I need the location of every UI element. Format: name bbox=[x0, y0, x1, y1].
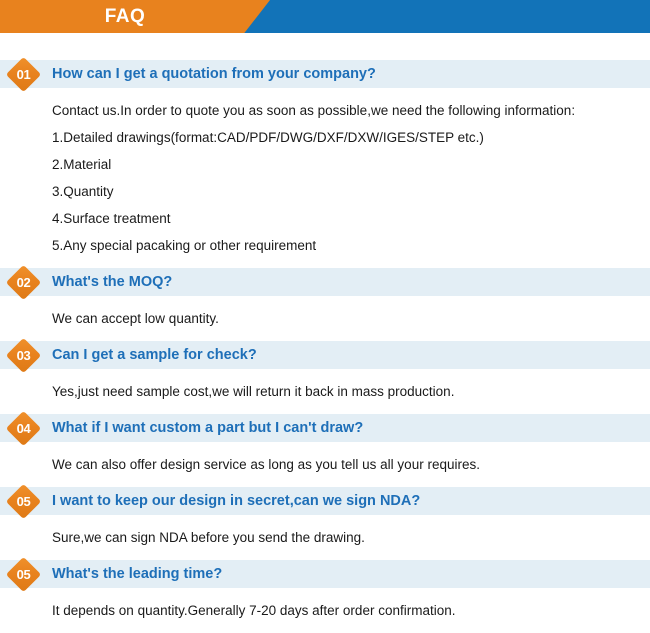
faq-answer-line: We can accept low quantity. bbox=[52, 296, 650, 341]
faq-answer-block: Yes,just need sample cost,we will return… bbox=[0, 369, 650, 414]
faq-question-row[interactable]: 02What's the MOQ? bbox=[0, 268, 650, 296]
faq-answer-line: Contact us.In order to quote you as soon… bbox=[52, 88, 650, 124]
faq-question-text: What's the leading time? bbox=[52, 566, 222, 582]
faq-answer-line: 1.Detailed drawings(format:CAD/PDF/DWG/D… bbox=[52, 124, 650, 151]
faq-item: 04What if I want custom a part but I can… bbox=[0, 414, 650, 487]
faq-answer-line: 2.Material bbox=[52, 151, 650, 178]
faq-question-text: What if I want custom a part but I can't… bbox=[52, 420, 363, 436]
faq-item: 02What's the MOQ?We can accept low quant… bbox=[0, 268, 650, 341]
faq-number: 01 bbox=[11, 62, 36, 87]
faq-number: 05 bbox=[11, 489, 36, 514]
faq-item: 05What's the leading time?It depends on … bbox=[0, 560, 650, 633]
faq-answer-line: Sure,we can sign NDA before you send the… bbox=[52, 515, 650, 560]
page-title: FAQ bbox=[0, 0, 250, 33]
faq-question-row[interactable]: 01How can I get a quotation from your co… bbox=[0, 60, 650, 88]
faq-item: 01How can I get a quotation from your co… bbox=[0, 60, 650, 268]
faq-question-text: How can I get a quotation from your comp… bbox=[52, 66, 376, 82]
faq-answer-block: We can accept low quantity. bbox=[0, 296, 650, 341]
faq-number: 02 bbox=[11, 270, 36, 295]
faq-question-row[interactable]: 04What if I want custom a part but I can… bbox=[0, 414, 650, 442]
faq-answer-line: We can also offer design service as long… bbox=[52, 442, 650, 487]
faq-item: 03Can I get a sample for check?Yes,just … bbox=[0, 341, 650, 414]
faq-header-banner: FAQ bbox=[0, 0, 650, 33]
faq-answer-line: It depends on quantity.Generally 7-20 da… bbox=[52, 588, 650, 633]
faq-answer-block: It depends on quantity.Generally 7-20 da… bbox=[0, 588, 650, 633]
faq-question-row[interactable]: 05I want to keep our design in secret,ca… bbox=[0, 487, 650, 515]
faq-question-text: I want to keep our design in secret,can … bbox=[52, 493, 420, 509]
faq-number: 05 bbox=[11, 562, 36, 587]
faq-answer-block: We can also offer design service as long… bbox=[0, 442, 650, 487]
faq-answer-line: 3.Quantity bbox=[52, 178, 650, 205]
faq-answer-line: 4.Surface treatment bbox=[52, 205, 650, 232]
faq-question-row[interactable]: 03Can I get a sample for check? bbox=[0, 341, 650, 369]
faq-question-text: What's the MOQ? bbox=[52, 274, 172, 290]
faq-item: 05I want to keep our design in secret,ca… bbox=[0, 487, 650, 560]
faq-answer-line: 5.Any special pacaking or other requirem… bbox=[52, 232, 650, 268]
faq-number: 03 bbox=[11, 343, 36, 368]
faq-question-text: Can I get a sample for check? bbox=[52, 347, 257, 363]
faq-list: 01How can I get a quotation from your co… bbox=[0, 33, 650, 633]
faq-answer-block: Sure,we can sign NDA before you send the… bbox=[0, 515, 650, 560]
faq-question-row[interactable]: 05What's the leading time? bbox=[0, 560, 650, 588]
faq-answer-line: Yes,just need sample cost,we will return… bbox=[52, 369, 650, 414]
faq-answer-block: Contact us.In order to quote you as soon… bbox=[0, 88, 650, 268]
faq-number: 04 bbox=[11, 416, 36, 441]
